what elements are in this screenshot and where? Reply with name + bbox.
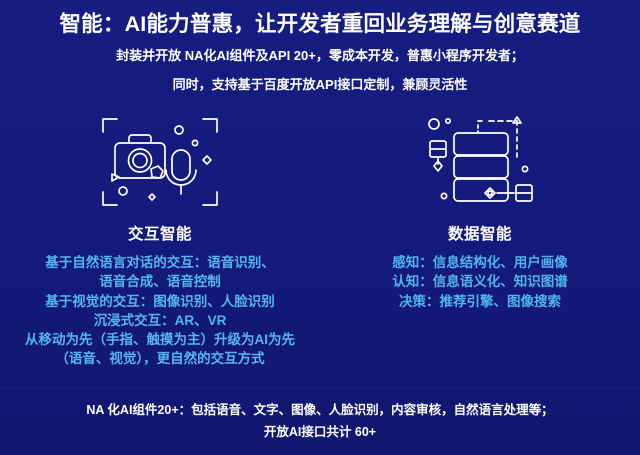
column-lines-interaction: 基于自然语言对话的交互：语音识别、 语音合成、语音控制 基于视觉的交互：图像识别… [0, 253, 320, 369]
list-item: 基于自然语言对话的交互：语音识别、 [0, 253, 320, 272]
interaction-icon-wrap [0, 111, 320, 213]
column-data-intelligence: 数据智能 感知：信息结构化、用户画像 认知：信息语义化、知识图谱 决策：推荐引擎… [320, 111, 640, 369]
list-item: 从移动为先（手指、触摸为主）升级为AI为先 [0, 330, 320, 349]
column-lines-data: 感知：信息结构化、用户画像 认知：信息语义化、知识图谱 决策：推荐引擎、图像搜索 [320, 253, 640, 311]
subtitle-line-1: 封装并开放 NA化AI组件及API 20+，零成本开发，普惠小程序开发者； [0, 47, 640, 65]
list-item: 沉浸式交互：AR、VR [0, 311, 320, 330]
list-item: 决策：推荐引擎、图像搜索 [320, 292, 640, 311]
list-item: 语音合成、语音控制 [0, 272, 320, 291]
slide-footer: NA 化AI组件20+：包括语音、文字、图像、人脸识别，内容审核，自然语言处理等… [0, 400, 640, 443]
subtitle-line-2: 同时，支持基于百度开放API接口定制，兼顾灵活性 [0, 76, 640, 94]
footer-line-1: NA 化AI组件20+：包括语音、文字、图像、人脸识别，内容审核，自然语言处理等… [0, 400, 640, 422]
page-title: 智能：AI能力普惠，让开发者重回业务理解与创意赛道 [0, 11, 640, 38]
database-stack-icon [421, 112, 539, 212]
slide-header: 智能：AI能力普惠，让开发者重回业务理解与创意赛道 封装并开放 NA化AI组件及… [0, 0, 640, 94]
column-interaction-intelligence: 交互智能 基于自然语言对话的交互：语音识别、 语音合成、语音控制 基于视觉的交互… [0, 111, 320, 369]
slide-root: 智能：AI能力普惠，让开发者重回业务理解与创意赛道 封装并开放 NA化AI组件及… [0, 0, 640, 455]
camera-microphone-scan-icon [96, 112, 224, 212]
column-heading-data: 数据智能 [320, 222, 640, 244]
column-heading-interaction: 交互智能 [0, 222, 320, 244]
content-columns: 交互智能 基于自然语言对话的交互：语音识别、 语音合成、语音控制 基于视觉的交互… [0, 111, 640, 369]
footer-line-2: 开放AI接口共计 60+ [0, 422, 640, 444]
list-item: （语音、视觉），更自然的交互方式 [0, 349, 320, 368]
footer-divider [0, 388, 640, 389]
list-item: 感知：信息结构化、用户画像 [320, 253, 640, 272]
list-item: 基于视觉的交互：图像识别、人脸识别 [0, 292, 320, 311]
list-item: 认知：信息语义化、知识图谱 [320, 272, 640, 291]
data-icon-wrap [320, 111, 640, 213]
